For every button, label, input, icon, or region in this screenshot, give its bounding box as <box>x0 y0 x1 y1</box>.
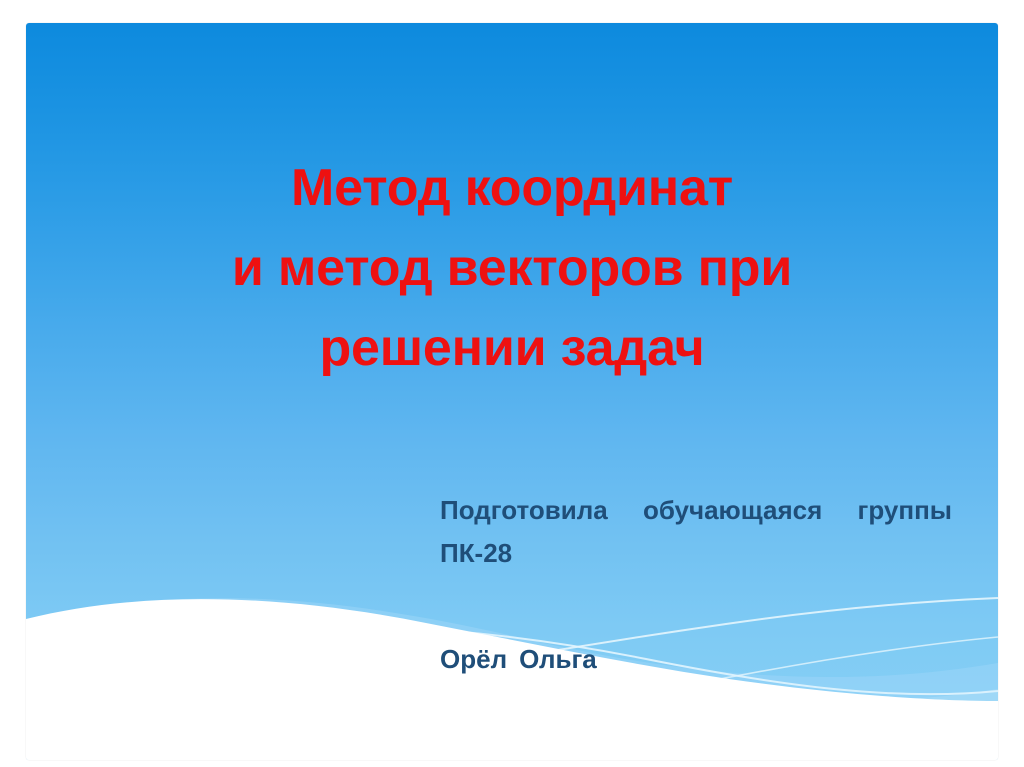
subtitle-name-first: Орёл <box>440 644 507 674</box>
title-line-2: и метод векторов при <box>82 228 942 308</box>
subtitle-name-second: Ольга <box>519 644 597 674</box>
presentation-page: Метод координат и метод векторов при реш… <box>0 0 1024 767</box>
subtitle-author-line: Подготовила обучающаяся группы ПК-28 <box>440 489 952 618</box>
title-line-3: решении задач <box>82 308 942 388</box>
slide-title: Метод координат и метод векторов при реш… <box>82 148 942 388</box>
slide-canvas: Метод координат и метод векторов при реш… <box>26 23 998 760</box>
subtitle-name-line: ОрёлОльга <box>440 638 952 681</box>
title-line-1: Метод координат <box>82 148 942 228</box>
slide-subtitle: Подготовила обучающаяся группы ПК-28 Орё… <box>440 489 952 681</box>
